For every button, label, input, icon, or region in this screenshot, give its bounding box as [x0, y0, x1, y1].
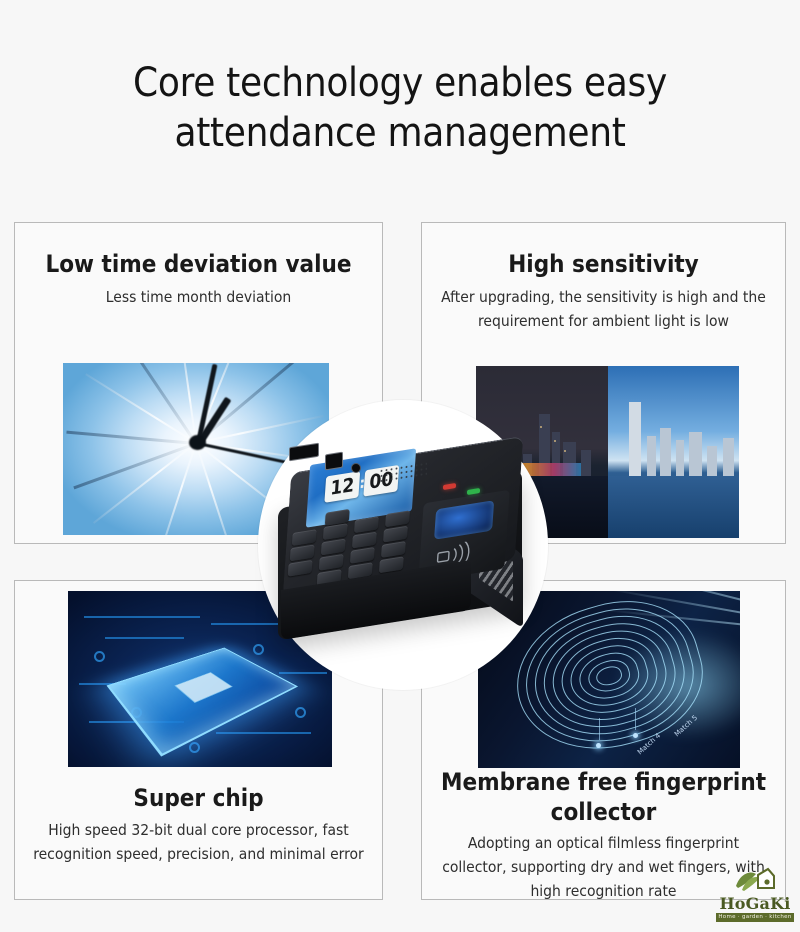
keypad-key[interactable] — [385, 510, 410, 527]
keypad-key[interactable] — [350, 547, 375, 564]
feature-title: Super chip — [15, 783, 382, 813]
page-title-line-2: attendance management — [0, 108, 800, 158]
keypad-key[interactable] — [292, 529, 317, 546]
keypad-key[interactable] — [352, 532, 377, 549]
keypad-key[interactable] — [319, 554, 344, 571]
feature-title: Membrane free fingerprint collector — [422, 767, 785, 827]
keypad-key[interactable] — [288, 560, 313, 577]
keypad-key[interactable] — [290, 544, 315, 561]
usb-port[interactable] — [289, 443, 319, 462]
infographic-page: Core technology enables easy attendance … — [0, 0, 800, 932]
cityscape-day-half — [608, 366, 740, 538]
keypad-key[interactable] — [354, 516, 379, 533]
feature-title: High sensitivity — [422, 249, 785, 279]
fingerprint-sensor-window[interactable] — [434, 500, 494, 540]
keypad-key[interactable] — [323, 523, 348, 540]
page-title: Core technology enables easy attendance … — [0, 58, 800, 158]
cpu-die — [174, 673, 232, 704]
cpu-chip — [106, 648, 298, 757]
keypad-key[interactable] — [381, 541, 406, 558]
brand-name: HoGaKi — [716, 895, 794, 912]
lcd-hours: 12 — [324, 471, 360, 503]
feature-description: Less time month deviation — [15, 285, 382, 309]
brand-tagline: Home · garden · kitchen — [716, 913, 794, 922]
feature-title: Low time deviation value — [15, 249, 382, 279]
keypad-key[interactable] — [383, 526, 408, 543]
leaf-house-icon — [734, 866, 776, 894]
feature-description: After upgrading, the sensitivity is high… — [422, 285, 785, 333]
clock-center-hub — [189, 435, 206, 450]
network-port[interactable] — [325, 452, 343, 471]
keypad-key[interactable] — [321, 539, 346, 556]
power-jack[interactable] — [351, 463, 361, 473]
feature-description: High speed 32-bit dual core processor, f… — [15, 818, 382, 866]
page-title-line-1: Core technology enables easy — [0, 58, 800, 108]
brand-logo: HoGaKi Home · garden · kitchen — [716, 866, 794, 922]
attendance-terminal-device: 12 : 00 — [275, 437, 535, 657]
